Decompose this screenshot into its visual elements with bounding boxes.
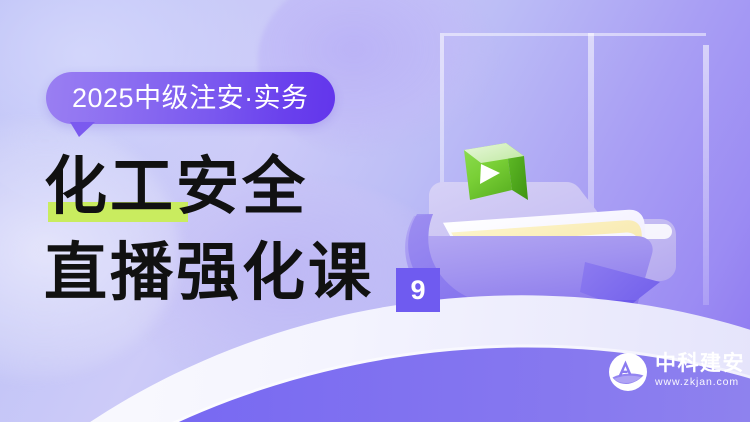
course-banner: 2025中级注安·实务 化工安全 直播强化课 9 中科建安 www.zkjan.…: [0, 0, 750, 422]
brand-text: 中科建安 www.zkjan.com: [655, 353, 745, 391]
title-line-2-row: 直播强化课: [44, 234, 374, 312]
brand-logo[interactable]: 中科建安 www.zkjan.com: [608, 352, 745, 392]
badge-tail-pointer: [70, 122, 95, 137]
brand-name: 中科建安: [655, 353, 745, 375]
brand-url: www.zkjan.com: [655, 375, 745, 391]
title-block: 化工安全 直播强化课: [44, 148, 374, 312]
page-title-line-1: 化工安全: [44, 148, 308, 226]
zkjan-mountain-logo-icon: [608, 352, 648, 392]
episode-number-badge: 9: [396, 268, 440, 312]
title-line-1-row: 化工安全: [44, 148, 374, 226]
page-title-line-2: 直播强化课: [44, 234, 374, 312]
play-cube-icon: [464, 143, 528, 200]
badge-pill: 2025中级注安·实务: [46, 72, 335, 124]
badge-label: 2025中级注安·实务: [72, 85, 309, 112]
course-badge: 2025中级注安·实务: [46, 72, 335, 124]
